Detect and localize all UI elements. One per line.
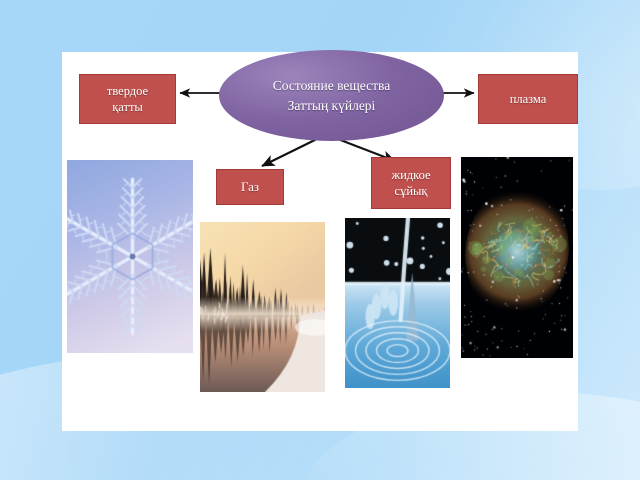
- node-solid-label-ru: твердое: [107, 83, 148, 99]
- slide-canvas: Состояние вещества Заттың күйлері твердо…: [0, 0, 640, 480]
- node-liquid-label-ru: жидкое: [391, 167, 430, 183]
- node-solid[interactable]: твердое қатты: [79, 74, 176, 124]
- node-solid-label-kk: қатты: [112, 99, 143, 115]
- snowflake-photo: [67, 160, 193, 353]
- node-state-of-matter[interactable]: Состояние вещества Заттың күйлері: [219, 50, 444, 141]
- node-plasma-label-ru: плазма: [510, 91, 547, 107]
- node-liquid[interactable]: жидкое сұйық: [371, 157, 451, 209]
- node-gas[interactable]: Газ: [216, 169, 284, 205]
- center-title-ru: Состояние вещества: [273, 76, 390, 96]
- water-splash-photo: [345, 218, 450, 388]
- node-liquid-label-kk: сұйық: [395, 183, 428, 199]
- crab-nebula-photo: [461, 157, 573, 358]
- node-gas-label-ru: Газ: [241, 179, 259, 196]
- node-plasma[interactable]: плазма: [478, 74, 578, 124]
- center-title-kk: Заттың күйлері: [288, 96, 376, 116]
- misty-river-forest-photo: [200, 222, 325, 392]
